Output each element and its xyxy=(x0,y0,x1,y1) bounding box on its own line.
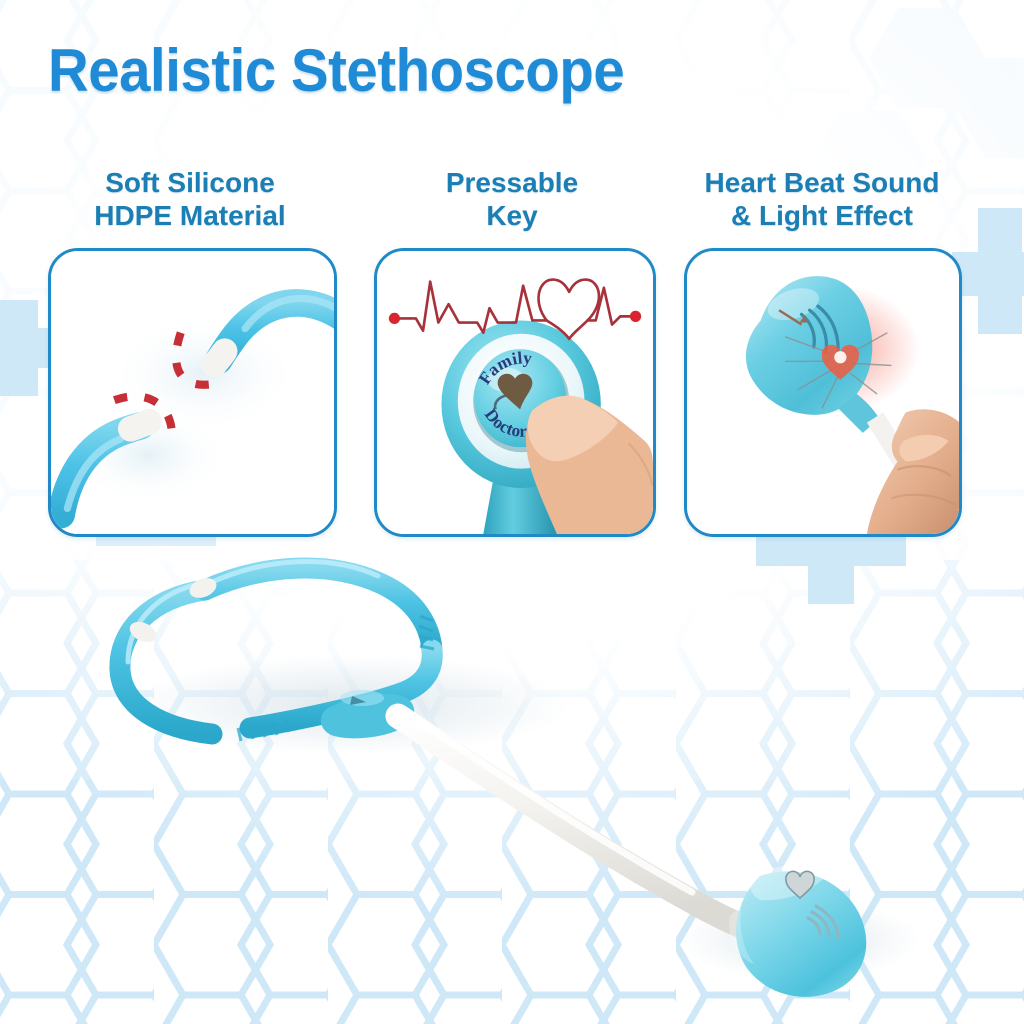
caption-line-2: & Light Effect xyxy=(680,199,964,232)
feature-caption-soft-silicone: Soft Silicone HDPE Material xyxy=(48,166,332,232)
feature-card-soft-silicone xyxy=(48,248,337,537)
caption-line-1: Soft Silicone xyxy=(48,166,332,199)
heartbeat-light-illustration xyxy=(687,251,959,534)
pressable-key-illustration: Family Doctor xyxy=(377,251,653,534)
caption-line-1: Pressable xyxy=(372,166,652,199)
main-white-tube xyxy=(398,710,760,934)
hero-product-image xyxy=(0,520,1024,1024)
caption-line-1: Heart Beat Sound xyxy=(680,166,964,199)
infographic-canvas: Realistic Stethoscope Soft Silicone HDPE… xyxy=(0,0,1024,1024)
feature-card-pressable-key: Family Doctor xyxy=(374,248,656,537)
feature-card-heartbeat-light xyxy=(684,248,962,537)
soft-silicone-illustration xyxy=(51,251,334,534)
feature-caption-pressable-key: Pressable Key xyxy=(372,166,652,232)
caption-line-2: Key xyxy=(372,199,652,232)
page-title: Realistic Stethoscope xyxy=(48,40,624,102)
feature-caption-heartbeat-sound-light: Heart Beat Sound & Light Effect xyxy=(680,166,964,232)
caption-line-2: HDPE Material xyxy=(48,199,332,232)
chestpiece xyxy=(729,865,866,996)
headset-top-arc xyxy=(205,562,432,650)
ecg-dot-left xyxy=(389,313,400,324)
ecg-dot-right xyxy=(630,311,641,322)
stethoscope-product xyxy=(0,520,1024,1024)
